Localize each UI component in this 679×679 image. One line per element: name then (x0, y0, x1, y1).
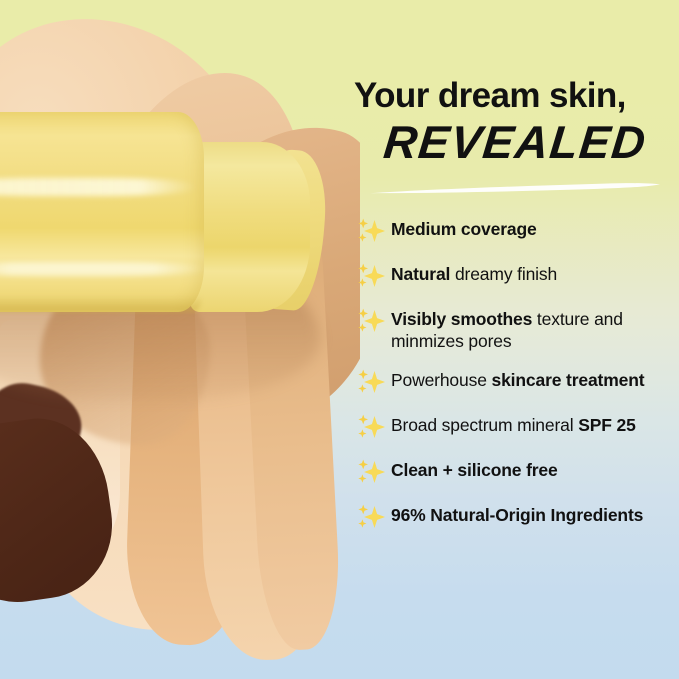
sparkle-icon (356, 367, 386, 397)
product-infographic: Your dream skin, REVEALED Medium coverag… (0, 0, 679, 679)
list-item: Medium coverage (356, 216, 672, 246)
list-item-regular: Powerhouse (391, 370, 492, 390)
brush-underline-swoosh (368, 182, 662, 195)
sparkle-icon (356, 216, 386, 246)
tube-highlight-lower (0, 262, 206, 276)
list-item-regular: dreamy finish (450, 264, 557, 284)
list-item-bold: Medium coverage (391, 219, 537, 239)
list-item: Clean + silicone free (356, 457, 672, 487)
copy-column: Your dream skin, REVEALED Medium coverag… (352, 0, 672, 679)
headline-line-1: Your dream skin, (354, 78, 670, 113)
list-item-text: Medium coverage (391, 216, 537, 241)
sparkle-icon (356, 261, 386, 291)
headline-block: Your dream skin, REVEALED (354, 78, 670, 166)
list-item: Visibly smoothes texture and minmizes po… (356, 306, 672, 352)
list-item-text: 96% Natural-Origin Ingredients (391, 502, 643, 527)
list-item-bold: skincare treatment (492, 370, 645, 390)
tube-highlight-upper (0, 178, 196, 196)
list-item-bold: Clean + silicone free (391, 460, 558, 480)
sparkle-icon (356, 457, 386, 487)
product-artwork (0, 0, 360, 679)
list-item-bold: Natural (391, 264, 450, 284)
list-item-bold: 96% Natural-Origin Ingredients (391, 505, 643, 525)
list-item-text: Powerhouse skincare treatment (391, 367, 644, 392)
artwork-edge-fade (250, 0, 360, 679)
tube-bottom-shading (0, 296, 202, 312)
list-item-bold: Visibly smoothes (391, 309, 532, 329)
sparkle-icon (356, 502, 386, 532)
list-item: Broad spectrum mineral SPF 25 (356, 412, 672, 442)
list-item-text: Visibly smoothes texture and minmizes po… (391, 306, 672, 352)
list-item: 96% Natural-Origin Ingredients (356, 502, 672, 532)
list-item-bold: SPF 25 (578, 415, 635, 435)
list-item-text: Clean + silicone free (391, 457, 558, 482)
sparkle-icon (356, 412, 386, 442)
benefit-list: Medium coverage Natural dreamy finish (356, 216, 672, 547)
headline-line-2: REVEALED (381, 118, 672, 166)
list-item: Natural dreamy finish (356, 261, 672, 291)
list-item-text: Natural dreamy finish (391, 261, 557, 286)
list-item-regular: Broad spectrum mineral (391, 415, 578, 435)
product-tube-body (0, 112, 204, 312)
sparkle-icon (356, 306, 386, 336)
list-item: Powerhouse skincare treatment (356, 367, 672, 397)
list-item-text: Broad spectrum mineral SPF 25 (391, 412, 636, 437)
